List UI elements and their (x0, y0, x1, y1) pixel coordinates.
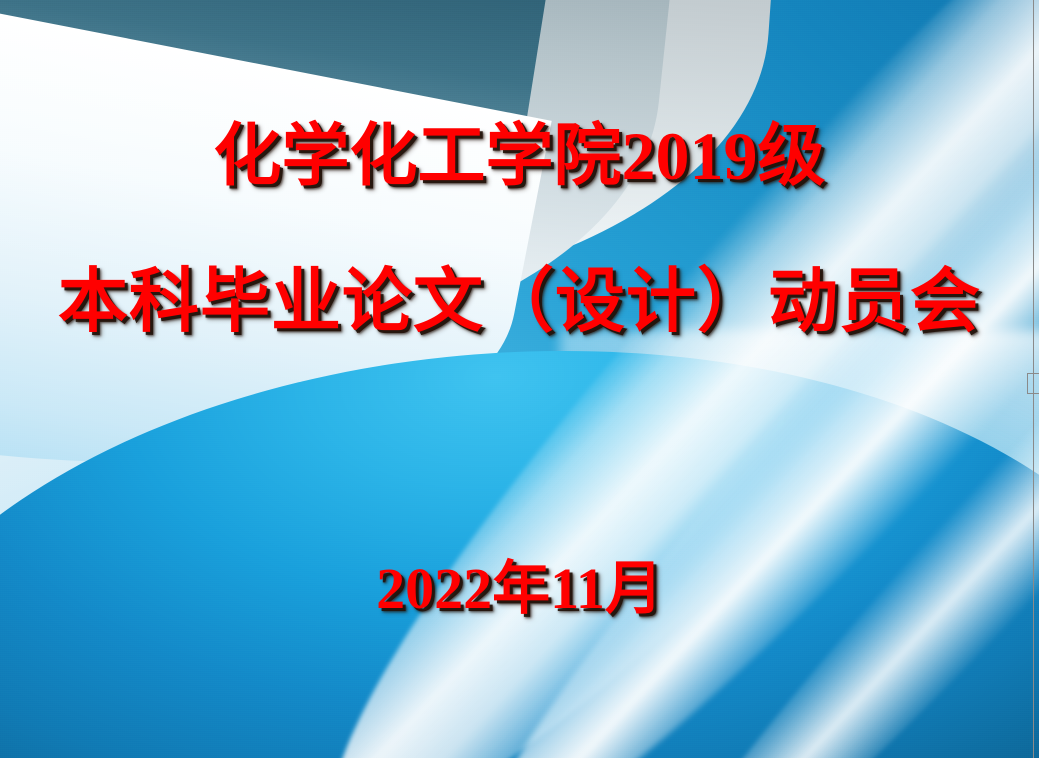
scroll-handle-icon[interactable] (1027, 373, 1039, 394)
slide-date: 2022年11月 (0, 560, 1039, 618)
slide-text-block: 化学化工学院2019级 本科毕业论文（设计）动员会 2022年11月 (0, 0, 1039, 758)
slide-title-line-1: 化学化工学院2019级 (0, 122, 1039, 190)
slide-title-line-2: 本科毕业论文（设计）动员会 (0, 268, 1039, 338)
presentation-slide: 化学化工学院2019级 本科毕业论文（设计）动员会 2022年11月 (0, 0, 1039, 758)
